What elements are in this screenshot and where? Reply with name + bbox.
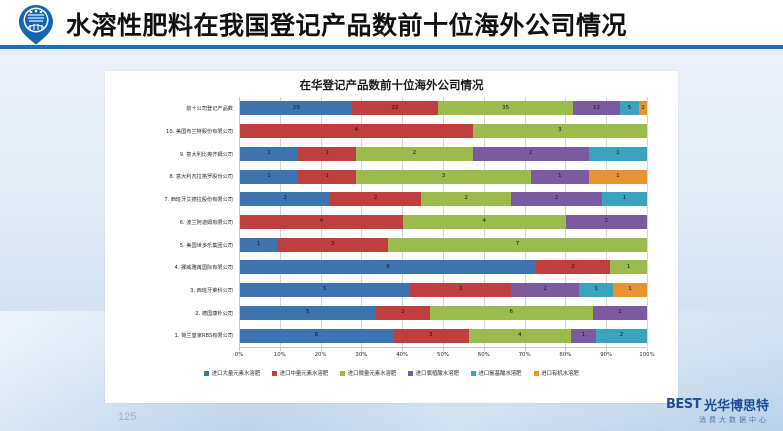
fertilizer-drop-logo-icon [14, 2, 58, 46]
chart-category-label: 10. 美国布兰特股份有限公司 [166, 128, 233, 135]
chart-bar-segment: 3 [410, 283, 512, 297]
chart-x-tick [606, 348, 607, 351]
chart-bar-segment: 2 [511, 192, 601, 206]
chart-x-tick [525, 348, 526, 351]
chart-x-tick [321, 348, 322, 351]
chart-bar-row: 11221 [240, 147, 647, 161]
chart-bar-segment: 2 [639, 101, 647, 115]
chart-legend-swatch [272, 371, 277, 376]
chart-plot-area: 2922351252431122111311222214421378215321… [239, 97, 647, 347]
slide-header: 水溶性肥料在我国登记产品数前十位海外公司情况 [0, 0, 783, 49]
chart-category-label: 9. 意大利比奥齐姆公司 [180, 151, 233, 158]
chart-bar-row: 2922351252 [240, 101, 647, 115]
chart-category-label: 2. 德国康朴公司 [195, 310, 233, 317]
chart-bar-segment: 5 [240, 306, 376, 320]
chart-bar-segment: 1 [610, 260, 647, 274]
chart-gridline [647, 97, 648, 347]
chart-x-tick [647, 348, 648, 351]
chart-x-tick-label: 40% [396, 352, 408, 358]
chart-bar-segment: 2 [593, 306, 647, 320]
chart-legend-label: 进口中量元素水溶肥 [280, 369, 329, 377]
chart-bar-segment: 1 [602, 192, 647, 206]
chart-x-tick-label: 80% [559, 352, 571, 358]
chart-category-label: 4. 挪威雅苒国际有限公司 [175, 264, 233, 271]
chart-value-axis: 0%10%20%30%40%50%60%70%80%90%100% [239, 347, 647, 363]
chart-category-label: 3. 西班牙莱科公司 [190, 287, 233, 294]
chart-bar-segment: 3 [393, 329, 469, 343]
chart-legend: 进口大量元素水溶肥进口中量元素水溶肥进口微量元素水溶肥进口腐植酸水溶肥进口氨基酸… [105, 369, 678, 377]
chart-bar-segment: 2 [596, 329, 647, 343]
chart-legend-item[interactable]: 进口有机水溶肥 [534, 369, 579, 377]
chart-bar-segment: 1 [613, 283, 647, 297]
chart-bar-segment: 6 [430, 306, 593, 320]
chart-bar-segment: 2 [566, 215, 647, 229]
chart-category-label: 前十公司登记产品数 [186, 105, 233, 112]
slide-body: 在华登记产品数前十位海外公司情况 前十公司登记产品数10. 美国布兰特股份有限公… [0, 49, 783, 431]
chart-legend-swatch [534, 371, 539, 376]
chart-legend-swatch [408, 371, 413, 376]
chart-bar-segment: 1 [571, 329, 596, 343]
chart-legend-item[interactable]: 进口微量元素水溶肥 [340, 369, 396, 377]
chart-category-axis: 前十公司登记产品数10. 美国布兰特股份有限公司9. 意大利比奥齐姆公司8. 意… [105, 97, 237, 347]
chart-bar-segment: 8 [240, 260, 536, 274]
chart-x-tick-label: 30% [355, 352, 367, 358]
chart-legend-item[interactable]: 进口腐植酸水溶肥 [408, 369, 459, 377]
chart-bar-segment: 3 [356, 170, 530, 184]
chart-bar-segment: 2 [330, 192, 420, 206]
chart-bar-segment: 3 [277, 238, 388, 252]
brand-name: 光华博思特 [704, 395, 769, 414]
chart-bar-row: 5262 [240, 306, 647, 320]
chart-bar-segment: 4 [469, 329, 571, 343]
chart-bar-segment: 4 [240, 215, 403, 229]
brand-tagline: 消费大数据中心 [666, 415, 769, 425]
chart-bar-segment: 1 [240, 238, 277, 252]
chart-plot-wrapper: 前十公司登记产品数10. 美国布兰特股份有限公司9. 意大利比奥齐姆公司8. 意… [105, 97, 678, 347]
chart-legend-label: 进口有机水溶肥 [541, 369, 579, 377]
chart-x-tick [361, 348, 362, 351]
brand-mark: BEST [666, 397, 701, 412]
chart-category-label: 6. 波兰阿道姆有限公司 [180, 219, 233, 226]
chart-category-label: 5. 美国世多乐集团公司 [180, 242, 233, 249]
chart-category-label: 8. 意大利瓦拉格罗股份公司 [169, 173, 233, 180]
chart-bar-segment: 5 [620, 101, 639, 115]
chart-x-tick-label: 20% [315, 352, 327, 358]
chart-bar-segment: 35 [438, 101, 574, 115]
chart-bar-segment: 4 [403, 215, 566, 229]
chart-title: 在华登记产品数前十位海外公司情况 [105, 77, 678, 93]
chart-bar-segment: 2 [421, 192, 511, 206]
chart-bar-segment: 3 [473, 124, 647, 138]
chart-legend-swatch [204, 371, 209, 376]
chart-x-tick-label: 50% [437, 352, 449, 358]
chart-x-tick-label: 90% [600, 352, 612, 358]
chart-x-tick-label: 70% [519, 352, 531, 358]
chart-bar-segment: 2 [356, 147, 472, 161]
chart-bar-segment: 2 [536, 260, 610, 274]
page-number: 125 [118, 411, 136, 423]
chart-x-tick-label: 10% [274, 352, 286, 358]
chart-category-label: 7. 西班牙艾德拉股份有限公司 [164, 196, 233, 203]
chart-x-tick [484, 348, 485, 351]
chart-bar-segment: 1 [298, 170, 356, 184]
chart-bar-segment: 4 [240, 124, 473, 138]
chart-legend-label: 进口氨基酸水溶肥 [478, 369, 521, 377]
chart-legend-label: 进口微量元素水溶肥 [348, 369, 397, 377]
chart-bar-segment: 2 [240, 192, 330, 206]
chart-x-tick [280, 348, 281, 351]
chart-legend-item[interactable]: 进口中量元素水溶肥 [272, 369, 328, 377]
chart-legend-label: 进口腐植酸水溶肥 [416, 369, 459, 377]
chart-x-tick-label: 100% [639, 352, 654, 358]
chart-bar-segment: 29 [240, 101, 352, 115]
chart-bar-segment: 12 [573, 101, 620, 115]
chart-bar-segment: 5 [240, 283, 410, 297]
chart-bar-row: 63412 [240, 329, 647, 343]
chart-bar-segment: 1 [531, 170, 589, 184]
chart-bar-segment: 22 [352, 101, 437, 115]
chart-bar-segment: 1 [298, 147, 356, 161]
chart-bar-segment: 1 [579, 283, 613, 297]
chart-bar-row: 53211 [240, 283, 647, 297]
chart-bar-segment: 1 [589, 170, 647, 184]
chart-bar-segment: 2 [473, 147, 589, 161]
chart-legend-item[interactable]: 进口大量元素水溶肥 [204, 369, 260, 377]
chart-bar-row: 137 [240, 238, 647, 252]
chart-bar-row: 22221 [240, 192, 647, 206]
chart-bar-row: 821 [240, 260, 647, 274]
chart-legend-swatch [340, 371, 345, 376]
chart-x-tick-label: 0% [235, 352, 244, 358]
chart-x-tick [565, 348, 566, 351]
chart-x-tick-label: 60% [478, 352, 490, 358]
chart-bar-segment: 1 [240, 170, 298, 184]
chart-bar-segment: 2 [511, 283, 579, 297]
chart-legend-label: 进口大量元素水溶肥 [212, 369, 261, 377]
chart-bar-segment: 6 [240, 329, 393, 343]
chart-x-tick [239, 348, 240, 351]
chart-legend-item[interactable]: 进口氨基酸水溶肥 [471, 369, 522, 377]
chart-x-tick [402, 348, 403, 351]
chart-legend-swatch [471, 371, 476, 376]
footer-brand: BEST 光华博思特 消费大数据中心 [666, 395, 769, 425]
chart-bar-row: 442 [240, 215, 647, 229]
chart-bar-segment: 1 [240, 147, 298, 161]
page-title: 水溶性肥料在我国登记产品数前十位海外公司情况 [66, 6, 627, 42]
chart-bar-segment: 1 [589, 147, 647, 161]
chart-bar-row: 43 [240, 124, 647, 138]
chart-x-tick [443, 348, 444, 351]
chart-category-label: 1. 荷兰皇家RBS有限公司 [175, 332, 233, 339]
chart-bar-row: 11311 [240, 170, 647, 184]
chart-bar-segment: 2 [376, 306, 430, 320]
chart-bar-segment: 7 [388, 238, 647, 252]
chart-card: 在华登记产品数前十位海外公司情况 前十公司登记产品数10. 美国布兰特股份有限公… [105, 71, 678, 403]
